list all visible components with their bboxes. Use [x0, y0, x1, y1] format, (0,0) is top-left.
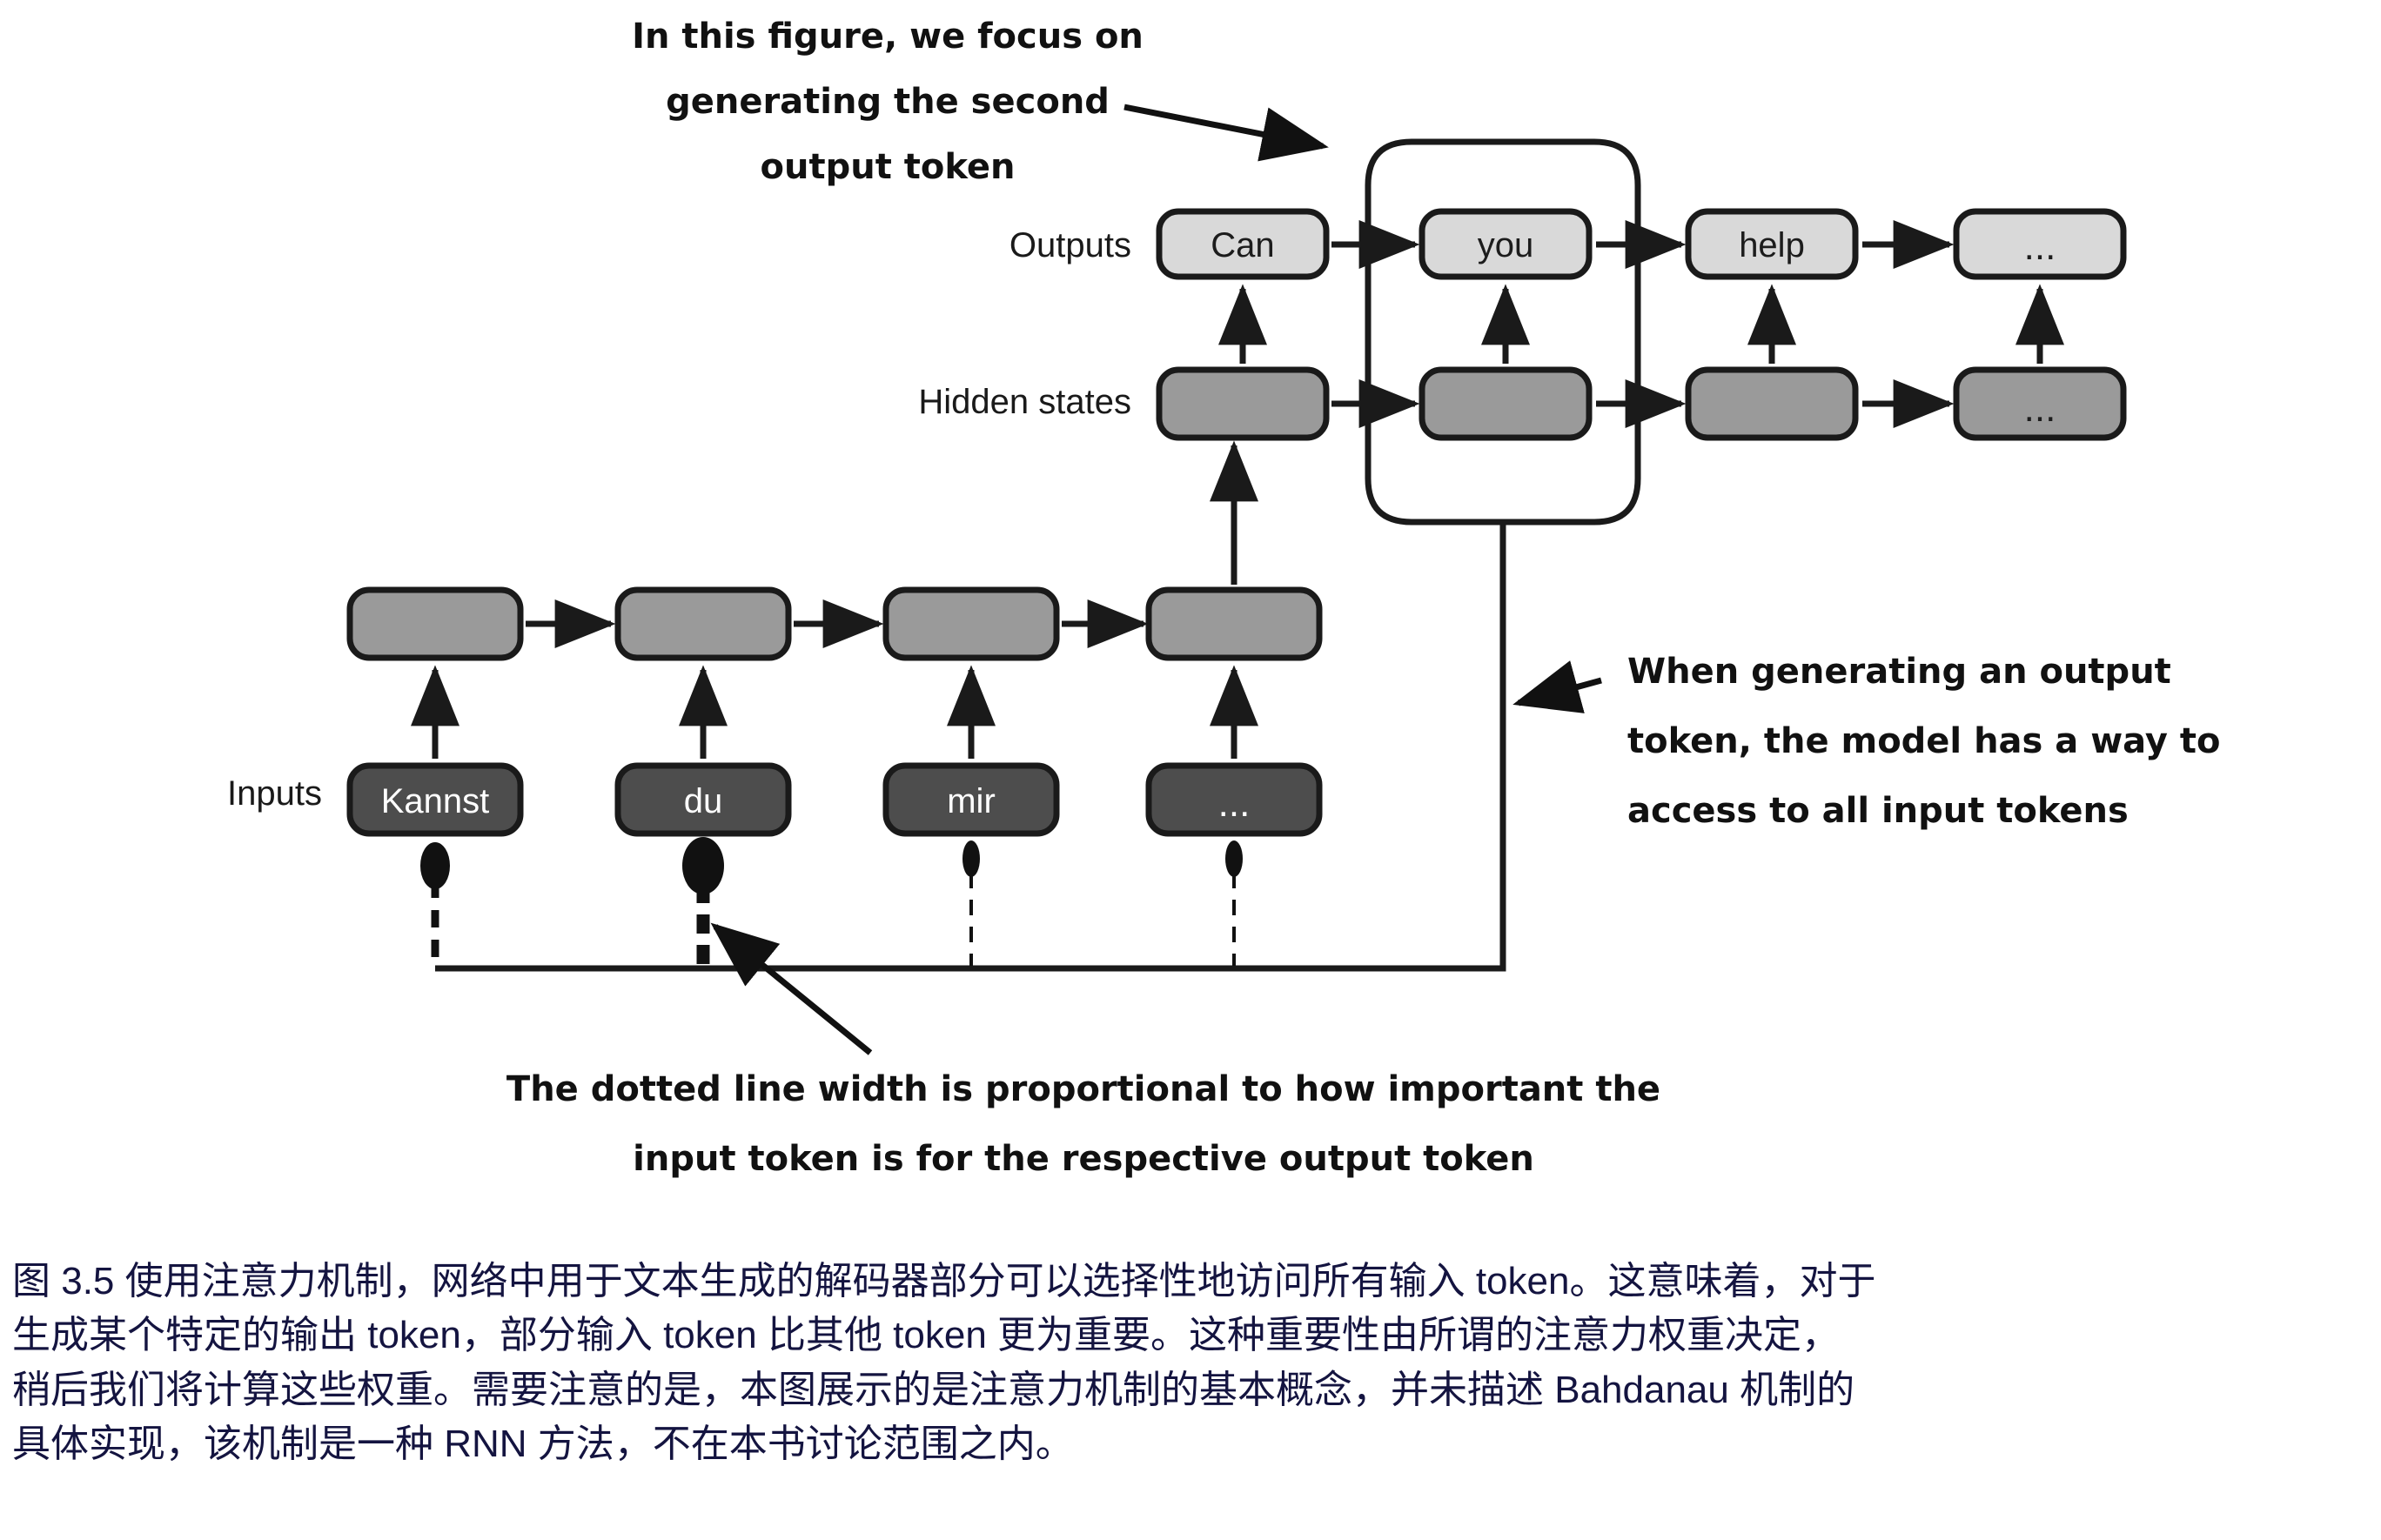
focus-annotation-line-1: In this figure, we focus on: [632, 17, 1144, 57]
figure-diagram: In this figure, we focus on generating t…: [0, 0, 2381, 1244]
encoder-hidden-box-1[interactable]: [350, 590, 520, 658]
input-box-ellipsis[interactable]: ...: [1149, 766, 1319, 834]
output-box-you[interactable]: you: [1422, 211, 1589, 277]
dotted-line-annotation-line-1: The dotted line width is proportional to…: [506, 1069, 1660, 1109]
decoder-hidden-ellipsis-label: ...: [2024, 387, 2056, 430]
input-box-kannst-label: Kannst: [381, 782, 490, 820]
caption-line-3: 稍后我们将计算这些权重。需要注意的是，本图展示的是注意力机制的基本概念，并未描述…: [12, 1363, 2372, 1417]
decoder-hidden-box-2[interactable]: [1422, 370, 1589, 438]
decoder-hidden-box-3[interactable]: [1688, 370, 1855, 438]
hidden-states-row-label: Hidden states: [918, 383, 1131, 421]
encoder-hidden-box-4[interactable]: [1149, 590, 1319, 658]
input-box-du-label: du: [684, 782, 723, 820]
input-box-du[interactable]: du: [618, 766, 788, 834]
decoder-hidden-box-1[interactable]: [1159, 370, 1326, 438]
outputs-row-label: Outputs: [1009, 226, 1131, 264]
input-box-mir[interactable]: mir: [886, 766, 1056, 834]
output-box-ellipsis[interactable]: ...: [1956, 211, 2123, 277]
inputs-row-label: Inputs: [227, 774, 322, 813]
input-box-kannst[interactable]: Kannst: [350, 766, 520, 834]
output-box-ellipsis-label: ...: [2024, 225, 2056, 268]
output-box-you-label: you: [1478, 226, 1534, 264]
encoder-hidden-box-2[interactable]: [618, 590, 788, 658]
output-box-help-label: help: [1739, 226, 1805, 264]
access-annotation-line-1: When generating an output: [1627, 652, 2171, 692]
decoder-hidden-box-ellipsis[interactable]: ...: [1956, 370, 2123, 438]
input-box-mir-label: mir: [947, 782, 996, 820]
input-box-ellipsis-label: ...: [1218, 782, 1251, 825]
access-annotation-line-3: access to all input tokens: [1627, 791, 2129, 831]
output-box-help[interactable]: help: [1688, 211, 1855, 277]
encoder-hidden-box-3[interactable]: [886, 590, 1056, 658]
focus-annotation-line-2: generating the second: [666, 82, 1110, 122]
output-box-can[interactable]: Can: [1159, 211, 1326, 277]
caption-line-1: 图 3.5 使用注意力机制，网络中用于文本生成的解码器部分可以选择性地访问所有输…: [12, 1255, 2372, 1309]
dotted-line-annotation-line-2: input token is for the respective output…: [633, 1139, 1534, 1179]
caption-line-2: 生成某个特定的输出 token，部分输入 token 比其他 token 更为重…: [12, 1309, 2372, 1363]
focus-annotation-line-3: output token: [761, 147, 1016, 187]
access-annotation-line-2: token, the model has a way to: [1627, 721, 2221, 761]
caption-line-4: 具体实现，该机制是一种 RNN 方法，不在本书讨论范围之内。: [12, 1417, 2372, 1471]
output-box-can-label: Can: [1211, 226, 1274, 264]
figure-caption: 图 3.5 使用注意力机制，网络中用于文本生成的解码器部分可以选择性地访问所有输…: [12, 1255, 2372, 1472]
